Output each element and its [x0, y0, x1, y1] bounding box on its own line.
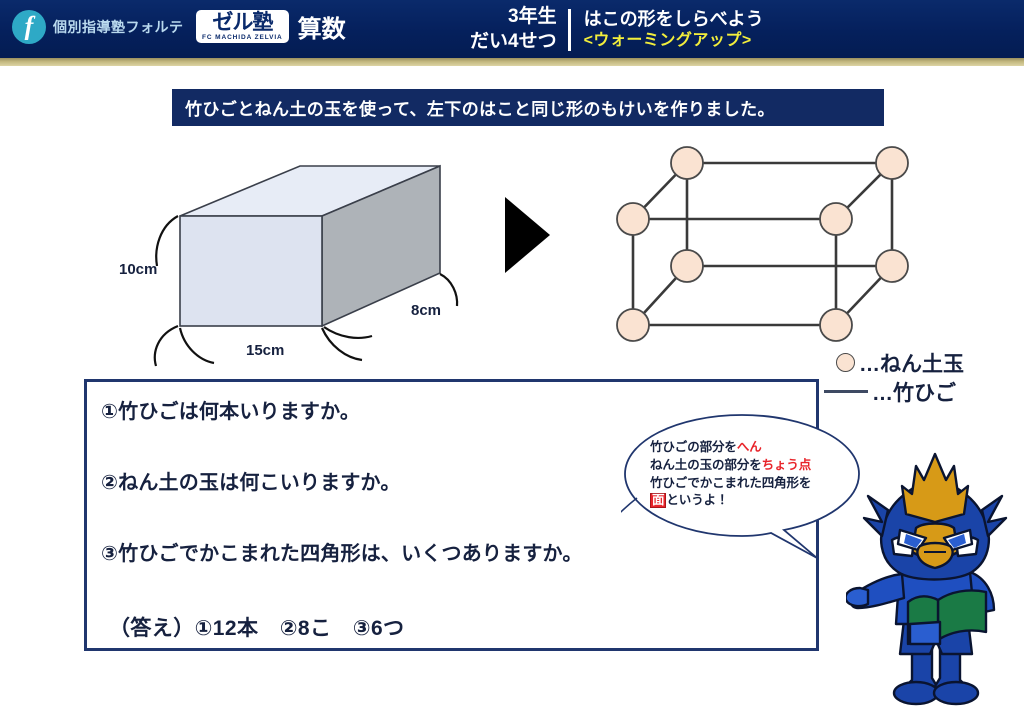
rectangular-box-illustration: 10cm 15cm 8cm — [110, 148, 500, 368]
zelvia-badge: ゼル塾 FC MACHIDA ZELVIA — [196, 10, 289, 43]
zelvia-bird-mascot — [846, 452, 1024, 709]
legend-label-bamboo-stick: …竹ひご — [872, 377, 956, 407]
speech-line-2-highlight: ちょう点 — [762, 458, 812, 472]
forte-f-logo-icon — [12, 10, 46, 44]
speech-bubble: 竹ひごの部分をへん ねん土の玉の部分をちょう点 竹ひごでかこまれた四角形を 面と… — [621, 412, 865, 560]
header-lesson-info: 3年生 だい4せつ はこの形をしらべよう <ウォーミングアップ> — [470, 5, 764, 54]
wireframe-cuboid-model — [600, 140, 920, 355]
header-divider — [568, 9, 571, 51]
legend-item-clay-ball: …ねん土玉 — [836, 348, 1024, 377]
question-2: ②ねん土の玉は何こいりますか。 — [101, 466, 401, 495]
forte-logo: 個別指導塾フォルテ ✕ — [12, 10, 211, 44]
title-block: はこの形をしらべよう <ウォーミングアップ> — [584, 8, 764, 51]
speech-line-1-prefix: 竹ひごの部分を — [650, 440, 737, 454]
lesson-subtitle: <ウォーミングアップ> — [584, 31, 764, 51]
slide-root: 個別指導塾フォルテ ✕ ゼル塾 FC MACHIDA ZELVIA 算数 3年生… — [0, 0, 1024, 709]
speech-line-4-suffix: というよ！ — [666, 493, 728, 507]
speech-line-3: 竹ひごでかこまれた四角形を — [650, 475, 850, 493]
bamboo-stick-icon — [824, 390, 868, 393]
forte-brand-name: 個別指導塾フォルテ — [53, 17, 184, 37]
grade-label: 3年生 — [470, 5, 557, 30]
speech-line-1-highlight: へん — [737, 440, 762, 454]
instruction-text: 竹ひごとねん土の玉を使って、左下のはこと同じ形のもけいを作りました。 — [172, 95, 775, 120]
subject-label: 算数 — [298, 9, 346, 44]
lesson-title: はこの形をしらべよう — [584, 8, 764, 31]
legend: …ねん土玉 …竹ひご — [836, 348, 1024, 406]
right-triangle-arrow-icon — [505, 197, 550, 273]
speech-bubble-text: 竹ひごの部分をへん ねん土の玉の部分をちょう点 竹ひごでかこまれた四角形を 面と… — [650, 439, 850, 510]
section-label: だい4せつ — [470, 30, 557, 55]
zelvia-badge-title: ゼル塾 — [212, 12, 272, 34]
speech-line-1: 竹ひごの部分をへん — [650, 439, 850, 457]
box-depth-label: 8cm — [411, 302, 441, 319]
speech-line-2-prefix: ねん土の玉の部分を — [650, 458, 762, 472]
zelvia-logo: ゼル塾 FC MACHIDA ZELVIA 算数 — [196, 9, 346, 44]
speech-line-2: ねん土の玉の部分をちょう点 — [650, 457, 850, 475]
clay-ball-icon — [836, 353, 855, 372]
legend-item-bamboo-stick: …竹ひご — [836, 377, 1024, 406]
instruction-banner: 竹ひごとねん土の玉を使って、左下のはこと同じ形のもけいを作りました。 — [172, 89, 884, 126]
question-1: ①竹ひごは何本いりますか。 — [101, 395, 360, 424]
question-3: ③竹ひごでかこまれた四角形は、いくつありますか。 — [101, 537, 583, 566]
box-width-label: 15cm — [246, 342, 284, 359]
header-gold-stripe — [0, 58, 1024, 66]
speech-line-4: 面というよ！ — [650, 492, 850, 510]
box-height-label: 10cm — [119, 261, 157, 278]
grade-block: 3年生 だい4せつ — [470, 5, 568, 54]
legend-label-clay-ball: …ねん土玉 — [859, 348, 964, 378]
speech-line-4-boxed-term: 面 — [650, 493, 666, 508]
answer-line: （答え）①12本 ②8こ ③6つ — [109, 612, 404, 642]
zelvia-badge-subtitle: FC MACHIDA ZELVIA — [202, 35, 283, 42]
